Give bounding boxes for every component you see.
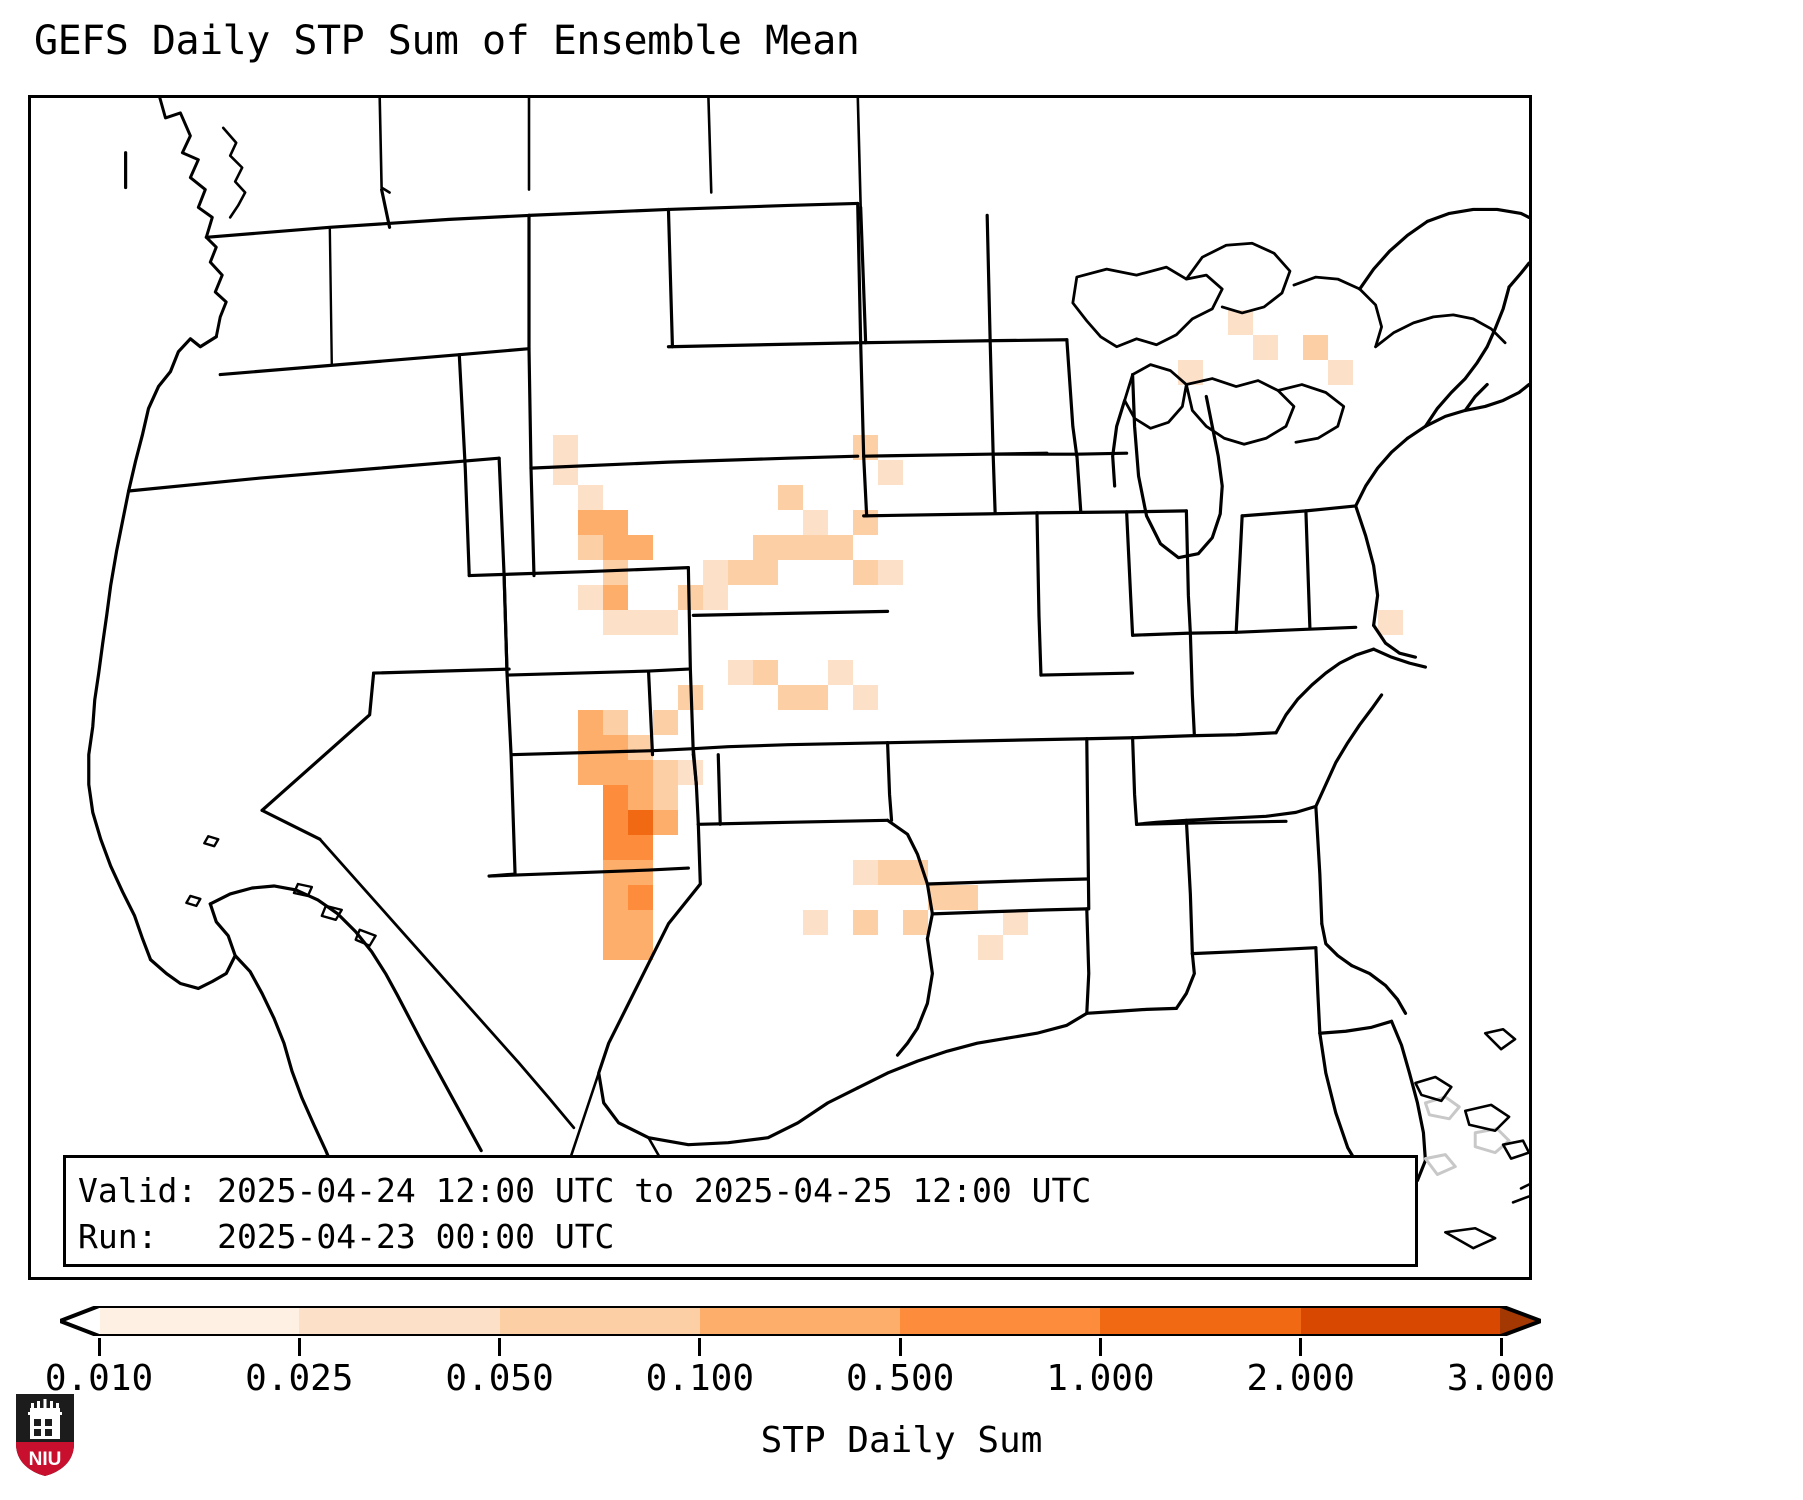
colorbar-tick-label-4: 0.500	[846, 1358, 954, 1399]
colorbar-tick-label-1: 0.025	[245, 1358, 353, 1399]
colorbar-tick-4	[899, 1338, 902, 1356]
colorbar-min-extend-arrow	[60, 1306, 100, 1336]
colorbar-band-5	[1100, 1306, 1300, 1336]
colorbar-tick-2	[498, 1338, 501, 1356]
colorbar-tick-label-3: 0.100	[646, 1358, 754, 1399]
colorbar-band-2	[500, 1306, 700, 1336]
colorbar-max-extend-arrow	[1500, 1306, 1540, 1336]
niu-logo: NIU	[14, 1392, 76, 1478]
colorbar-band-3	[700, 1306, 900, 1336]
colorbar-tick-7	[1500, 1338, 1503, 1356]
info-box: Valid: 2025-04-24 12:00 UTC to 2025-04-2…	[63, 1155, 1418, 1267]
page-title: GEFS Daily STP Sum of Ensemble Mean	[34, 18, 859, 64]
niu-logo-text: NIU	[29, 1449, 62, 1470]
colorbar[interactable]: 0.0100.0250.0500.1000.5001.0002.0003.000	[0, 1292, 1803, 1352]
colorbar-tick-label-2: 0.050	[445, 1358, 553, 1399]
run-time-line: Run: 2025-04-23 00:00 UTC	[78, 1214, 1415, 1260]
map-geography	[31, 98, 1529, 1277]
colorbar-tick-label-5: 1.000	[1046, 1358, 1154, 1399]
colorbar-tick-1	[298, 1338, 301, 1356]
colorbar-band-0	[99, 1306, 299, 1336]
colorbar-tick-6	[1299, 1338, 1302, 1356]
colorbar-tick-label-7: 3.000	[1447, 1358, 1555, 1399]
colorbar-bands	[99, 1306, 1501, 1336]
colorbar-band-1	[299, 1306, 499, 1336]
colorbar-tick-label-6: 2.000	[1247, 1358, 1355, 1399]
valid-time-line: Valid: 2025-04-24 12:00 UTC to 2025-04-2…	[78, 1168, 1415, 1214]
colorbar-tick-5	[1099, 1338, 1102, 1356]
colorbar-band-6	[1301, 1306, 1501, 1336]
colorbar-axis-label: STP Daily Sum	[0, 1420, 1803, 1461]
colorbar-tick-0	[98, 1338, 101, 1356]
colorbar-tick-3	[698, 1338, 701, 1356]
map-plot-area: Valid: 2025-04-24 12:00 UTC to 2025-04-2…	[28, 95, 1532, 1280]
colorbar-band-4	[900, 1306, 1100, 1336]
